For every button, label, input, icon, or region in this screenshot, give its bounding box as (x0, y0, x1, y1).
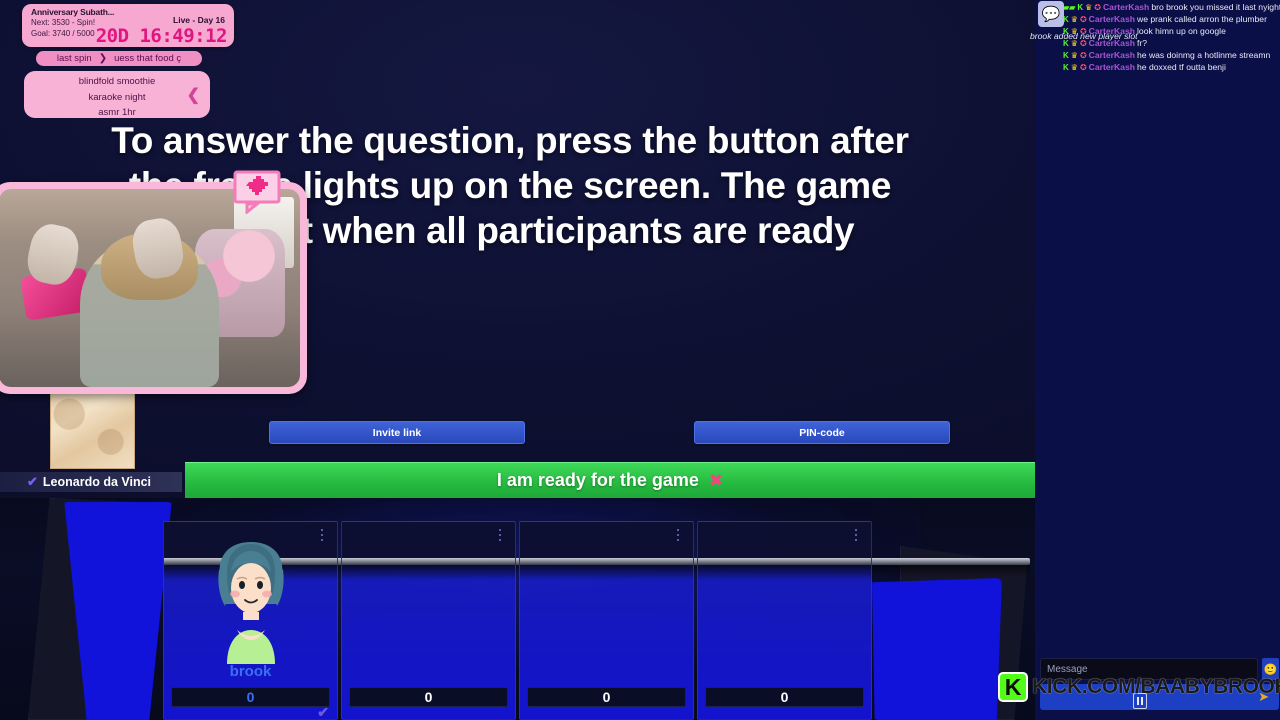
panel-rail-shadow (520, 565, 693, 579)
chat-username[interactable]: CarterKash (1089, 49, 1135, 61)
moderator-crown-icon: ♛ (1085, 3, 1092, 12)
chat-sidebar: ▰▰ K ♛ ✪ CarterKash bro brook you missed… (1035, 0, 1280, 720)
og-badge-icon: ✪ (1080, 51, 1087, 60)
kick-logo-icon: K (998, 672, 1028, 702)
chevron-left-icon[interactable]: ❮ (187, 85, 200, 105)
sub-badge-icon: ▰▰ (1063, 3, 1075, 12)
pin-code-button[interactable]: PIN-code (694, 421, 950, 444)
more-options-icon[interactable] (316, 527, 328, 543)
player-slot-event-note: brook added new player slot (1030, 31, 1230, 41)
channel-watermark: K KICK.COM/BAABYBROOK (998, 672, 1280, 702)
spin-list-item: blindfold smoothie (24, 74, 210, 90)
upcoming-spin-list: blindfold smoothie karaoke night asmr 1h… (24, 71, 210, 118)
chat-message: K ♛ ✪ CarterKash we prank called arron t… (1035, 13, 1280, 25)
player-score: 0 (171, 687, 330, 707)
more-options-icon[interactable] (494, 527, 506, 543)
chat-text: he doxxed tf outta benji (1137, 61, 1226, 73)
moderator-crown-icon: ♛ (1071, 15, 1078, 24)
chat-message: ▰▰ K ♛ ✪ CarterKash bro brook you missed… (1035, 1, 1280, 13)
player-score: 0 (527, 687, 686, 707)
panel-rail-shadow (698, 565, 871, 579)
chat-username[interactable]: CarterKash (1089, 13, 1135, 25)
player-score: 0 (349, 687, 508, 707)
panel-rail-shadow (342, 565, 515, 579)
pixel-heart-icon (233, 170, 281, 214)
kick-badge-icon: K (1063, 63, 1069, 72)
ready-for-game-button[interactable]: I am ready for the game ✖ (185, 462, 1035, 498)
artist-answer-bar: ✔ Leonardo da Vinci (0, 472, 182, 492)
kick-badge-icon: K (1063, 51, 1069, 60)
chat-username[interactable]: CarterKash (1089, 61, 1135, 73)
subathon-widget: Anniversary Subath... Next: 3530 - Spin!… (22, 4, 234, 47)
moderator-crown-icon: ♛ (1071, 51, 1078, 60)
og-badge-icon: ✪ (1094, 3, 1101, 12)
webcam-feed (0, 189, 300, 387)
chat-message-list[interactable]: ▰▰ K ♛ ✪ CarterKash bro brook you missed… (1035, 0, 1280, 86)
chat-message: K ♛ ✪ CarterKash he doxxed tf outta benj… (1035, 61, 1280, 73)
panel-header (698, 522, 871, 558)
og-badge-icon: ✪ (1080, 15, 1087, 24)
avatar (197, 536, 305, 664)
stream-overlay-root: To answer the question, press the button… (0, 0, 1280, 720)
chevron-right-icon: ❯ (99, 53, 107, 64)
chat-text: bro brook you missed it last nyight (1151, 1, 1280, 13)
subathon-countdown: 20D 16:49:12 (96, 25, 227, 47)
panel-header (342, 522, 515, 558)
right-blue-podium (872, 578, 1002, 720)
kick-badge-icon: K (1077, 3, 1083, 12)
player-panel-list: brook 0 ✔ 0 0 (163, 521, 873, 720)
panel-header (520, 522, 693, 558)
last-spin-label: last spin (57, 53, 92, 64)
watermark-handle: BAABYBROOK (1140, 675, 1280, 698)
speech-bubble-icon: 💬 (1042, 7, 1061, 22)
chat-text: he was doinmg a hotlinme streamn (1137, 49, 1270, 61)
og-badge-icon: ✪ (1080, 63, 1087, 72)
last-spin-result: uess that food ç (114, 53, 181, 64)
check-icon: ✔ (27, 474, 38, 490)
spin-list-item: asmr 1hr (24, 105, 210, 121)
ready-check-icon: ✔ (317, 704, 329, 720)
invite-link-button[interactable]: Invite link (269, 421, 525, 444)
player-panel[interactable]: 0 (697, 521, 872, 720)
player-score: 0 (705, 687, 864, 707)
moderator-crown-icon: ♛ (1071, 63, 1078, 72)
player-panel[interactable]: 0 (519, 521, 694, 720)
watermark-text: KICK.COM/BAABYBROOK (1032, 675, 1280, 699)
artist-name-label: Leonardo da Vinci (43, 475, 151, 489)
player-name: brook (164, 663, 337, 680)
panel-rail-segment (342, 558, 515, 565)
chat-message: K ♛ ✪ CarterKash he was doinmg a hotlinm… (1035, 49, 1280, 61)
spin-list-item: karaoke night (24, 90, 210, 106)
more-options-icon[interactable] (672, 527, 684, 543)
artwork-thumbnail (50, 390, 135, 469)
player-panel[interactable]: 0 (341, 521, 516, 720)
ready-button-label: I am ready for the game (497, 470, 699, 491)
panel-rail-segment (520, 558, 693, 565)
close-icon[interactable]: ✖ (709, 472, 723, 489)
lobby-button-row: Invite link PIN-code (0, 421, 1035, 445)
last-spin-pill: last spin ❯ uess that food ç (36, 51, 202, 66)
panel-rail-segment (698, 558, 871, 565)
chat-username[interactable]: CarterKash (1103, 1, 1149, 13)
more-options-icon[interactable] (850, 527, 862, 543)
watermark-prefix: KICK.COM/ (1032, 675, 1140, 698)
chat-text: we prank called arron the plumber (1137, 13, 1267, 25)
player-panel[interactable]: brook 0 ✔ (163, 521, 338, 720)
chat-toggle-button[interactable]: 💬 (1038, 1, 1064, 27)
subathon-live-day: Live - Day 16 (173, 15, 225, 25)
